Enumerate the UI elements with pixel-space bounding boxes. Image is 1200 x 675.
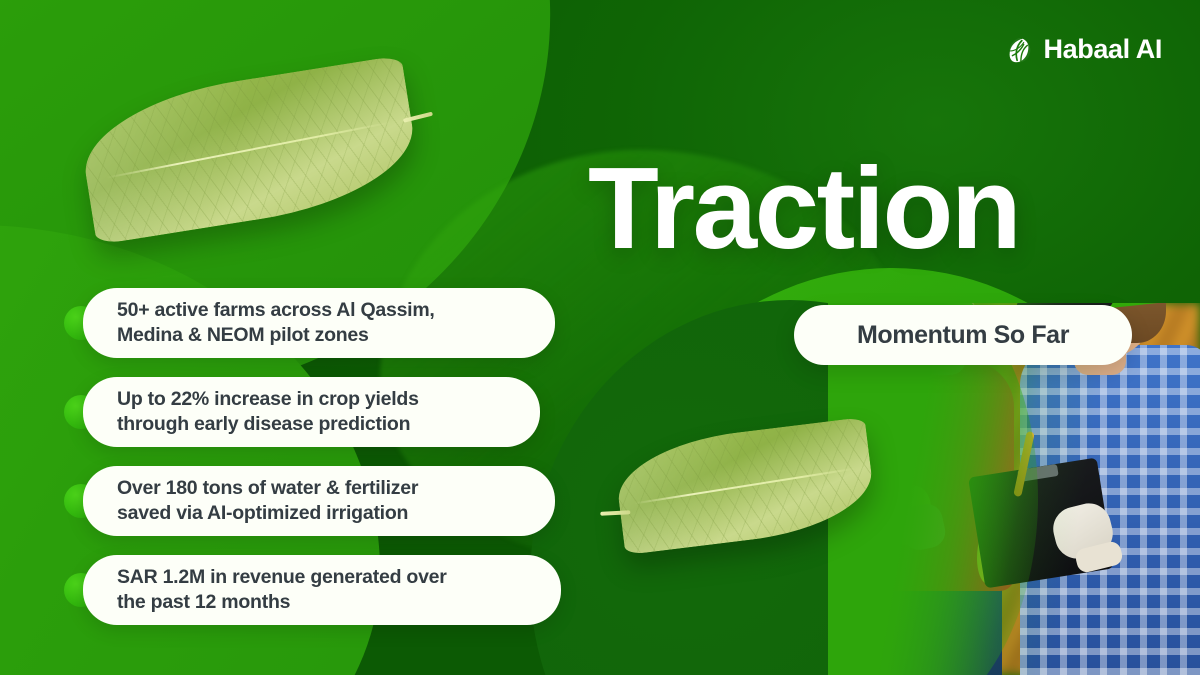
highlight-pill: Up to 22% increase in crop yields throug… xyxy=(83,377,540,447)
highlight-pill: SAR 1.2M in revenue generated over the p… xyxy=(83,555,561,625)
highlight-text: SAR 1.2M in revenue generated over the p… xyxy=(117,565,447,615)
slide-traction: Habaal AI Traction Momentum So Far 50+ a… xyxy=(0,0,1200,675)
list-item: 50+ active farms across Al Qassim, Medin… xyxy=(64,288,561,358)
page-title: Traction xyxy=(588,150,1019,266)
subtitle-text: Momentum So Far xyxy=(857,321,1069,350)
leaf-sprout-logo-icon xyxy=(1004,35,1034,65)
list-item: Up to 22% increase in crop yields throug… xyxy=(64,377,561,447)
highlight-text: 50+ active farms across Al Qassim, Medin… xyxy=(117,298,435,348)
highlight-pill: 50+ active farms across Al Qassim, Medin… xyxy=(83,288,555,358)
traction-highlights-list: 50+ active farms across Al Qassim, Medin… xyxy=(64,288,561,625)
highlight-pill: Over 180 tons of water & fertilizer save… xyxy=(83,466,555,536)
list-item: SAR 1.2M in revenue generated over the p… xyxy=(64,555,561,625)
list-item: Over 180 tons of water & fertilizer save… xyxy=(64,466,561,536)
highlight-text: Over 180 tons of water & fertilizer save… xyxy=(117,476,418,526)
brand-logo: Habaal AI xyxy=(1004,34,1162,65)
highlight-text: Up to 22% increase in crop yields throug… xyxy=(117,387,419,437)
brand-name: Habaal AI xyxy=(1044,34,1162,65)
subtitle-badge: Momentum So Far xyxy=(794,305,1132,365)
